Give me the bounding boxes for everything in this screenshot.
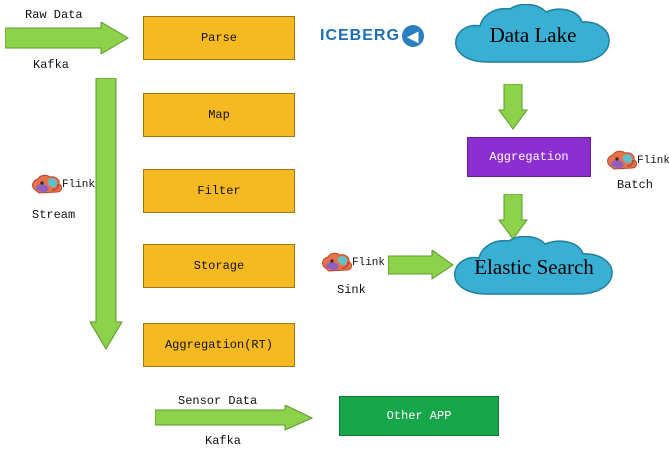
box-other-app[interactable]: Other APP xyxy=(339,396,499,436)
diagram-canvas: Raw Data Kafka Parse Map Filter Storage … xyxy=(0,0,669,459)
label-kafka-bottom: Kafka xyxy=(205,434,241,448)
iceberg-text: ICEBERG xyxy=(320,27,400,45)
box-aggregation-rt[interactable]: Aggregation(RT) xyxy=(143,323,295,367)
flink-label-batch: Flink xyxy=(637,155,669,167)
cloud-data-lake[interactable]: Data Lake xyxy=(450,4,616,66)
arrow-sensor-to-other-app xyxy=(155,405,313,431)
flink-label-sink: Flink xyxy=(352,257,385,269)
box-storage[interactable]: Storage xyxy=(143,244,295,288)
box-parse[interactable]: Parse xyxy=(143,16,295,60)
iceberg-logo: ICEBERG ◀ xyxy=(320,25,424,47)
flink-badge-stream: Flink xyxy=(30,172,92,198)
flink-squirrel-icon xyxy=(605,148,639,174)
box-aggregation[interactable]: Aggregation xyxy=(467,137,591,177)
box-filter[interactable]: Filter xyxy=(143,169,295,213)
flink-squirrel-icon xyxy=(30,172,64,198)
arrow-stream-vertical xyxy=(89,78,123,350)
flink-label-stream: Flink xyxy=(62,179,95,191)
arrow-lake-to-aggregation xyxy=(498,84,528,130)
label-kafka-top: Kafka xyxy=(33,58,69,72)
cloud-shape-icon xyxy=(450,4,616,66)
label-batch: Batch xyxy=(617,178,653,192)
arrow-sink-to-es xyxy=(388,250,454,280)
flink-squirrel-icon xyxy=(320,250,354,276)
cloud-elastic-search[interactable]: Elastic Search xyxy=(449,236,619,298)
flink-badge-batch: Flink xyxy=(605,148,667,174)
cloud-shape-icon xyxy=(449,236,619,298)
arrow-raw-to-parse xyxy=(5,22,129,54)
label-stream: Stream xyxy=(32,208,75,222)
box-map[interactable]: Map xyxy=(143,93,295,137)
iceberg-badge-icon: ◀ xyxy=(402,25,424,47)
label-sink: Sink xyxy=(337,283,366,297)
flink-badge-sink: Flink xyxy=(320,250,382,276)
arrow-aggregation-to-es xyxy=(498,194,528,240)
label-raw-data: Raw Data xyxy=(25,8,83,22)
